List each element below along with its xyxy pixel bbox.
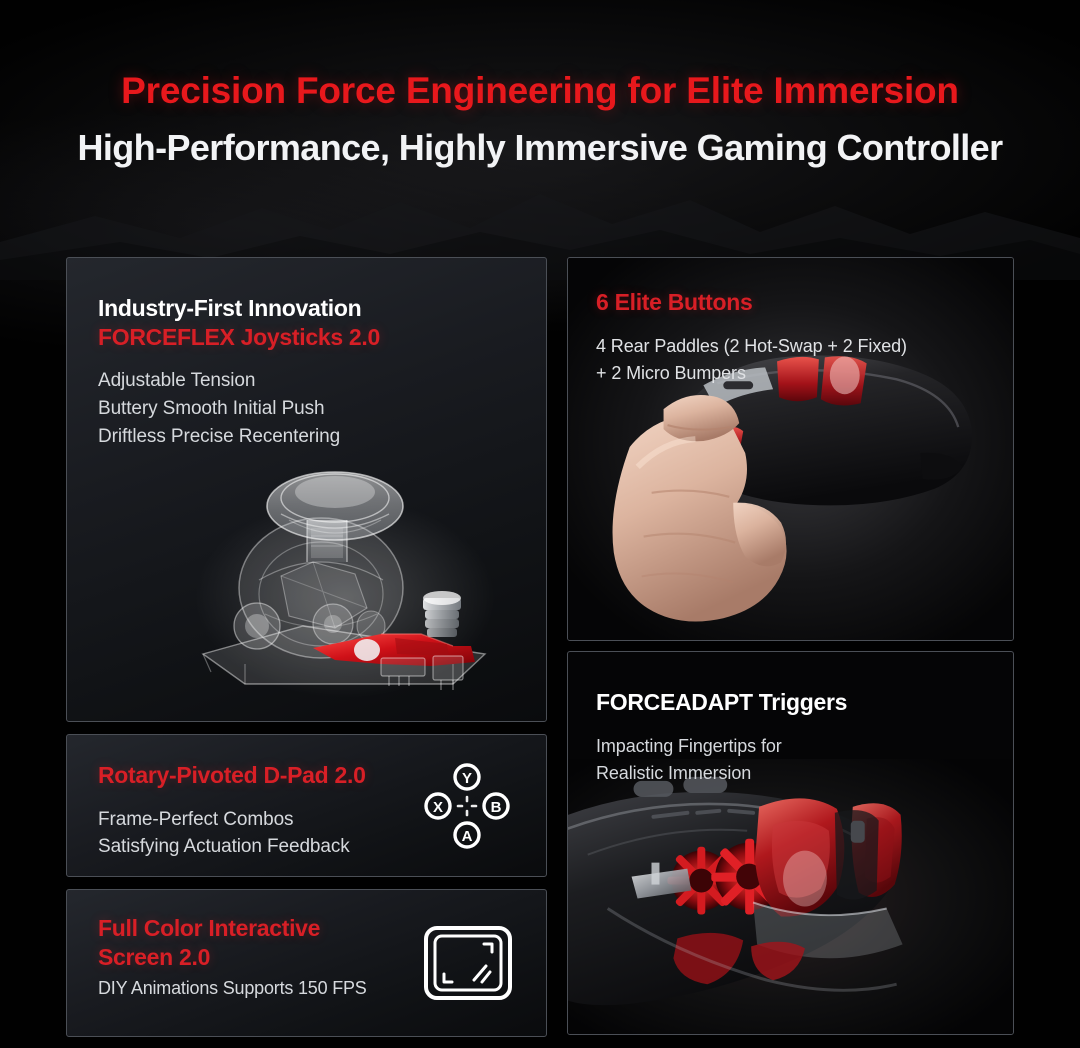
dpad-label-y: Y [462, 770, 472, 787]
joystick-kicker-red: FORCEFLEX Joysticks 2.0 [98, 323, 546, 352]
card-dpad-text: Rotary-Pivoted D-Pad 2.0 Frame-Perfect C… [67, 735, 397, 861]
dpad-kicker-red: Rotary-Pivoted D-Pad 2.0 [98, 761, 397, 790]
dpad-label-a: A [462, 828, 473, 845]
card-forceadapt-triggers[interactable]: FORCEADAPT Triggers Impacting Fingertips… [567, 651, 1014, 1035]
screen-subtitle: DIY Animations Supports 150 FPS [98, 978, 387, 999]
card-screen-text: Full Color Interactive Screen 2.0 DIY An… [67, 890, 387, 999]
screen-kicker-red-line1: Full Color Interactive [98, 914, 387, 943]
buttons-bullets: 4 Rear Paddles (2 Hot-Swap + 2 Fixed) + … [596, 333, 1013, 387]
right-column: 6 Elite Buttons 4 Rear Paddles (2 Hot-Sw… [567, 257, 1014, 1037]
card-forceflex-joystick[interactable]: Industry-First Innovation FORCEFLEX Joys… [66, 257, 547, 722]
feature-grid: Industry-First Innovation FORCEFLEX Joys… [66, 257, 1014, 1037]
left-column: Industry-First Innovation FORCEFLEX Joys… [66, 257, 547, 1037]
card-interactive-screen[interactable]: Full Color Interactive Screen 2.0 DIY An… [66, 889, 547, 1037]
list-item: Adjustable Tension [98, 367, 546, 395]
product-feature-page: Precision Force Engineering for Elite Im… [0, 0, 1080, 1048]
joystick-kicker: Industry-First Innovation [98, 294, 546, 323]
dpad-label-x: X [433, 799, 443, 816]
list-item: Buttery Smooth Initial Push [98, 395, 546, 423]
interactive-screen-icon [422, 924, 514, 1002]
list-item: 4 Rear Paddles (2 Hot-Swap + 2 Fixed) [596, 333, 1013, 360]
card-buttons-text: 6 Elite Buttons 4 Rear Paddles (2 Hot-Sw… [568, 258, 1013, 387]
joystick-bullets: Adjustable Tension Buttery Smooth Initia… [98, 367, 546, 451]
buttons-kicker-red: 6 Elite Buttons [596, 288, 1013, 317]
list-item: Satisfying Actuation Feedback [98, 833, 397, 861]
list-item: Frame-Perfect Combos [98, 806, 397, 834]
card-rotary-dpad[interactable]: Rotary-Pivoted D-Pad 2.0 Frame-Perfect C… [66, 734, 547, 877]
dpad-label-b: B [491, 799, 502, 816]
page-title-white: High-Performance, Highly Immersive Gamin… [0, 129, 1080, 167]
joystick-module-image [185, 458, 525, 703]
screen-kicker-red-line2: Screen 2.0 [98, 943, 387, 972]
card-joystick-text: Industry-First Innovation FORCEFLEX Joys… [67, 258, 546, 451]
list-item: + 2 Micro Bumpers [596, 360, 1013, 387]
list-item: Impacting Fingertips for [596, 733, 1013, 760]
headline-block: Precision Force Engineering for Elite Im… [0, 0, 1080, 167]
triggers-bullets: Impacting Fingertips for Realistic Immer… [596, 733, 1013, 787]
trigger-cutaway-image [568, 759, 1013, 1034]
card-elite-buttons[interactable]: 6 Elite Buttons 4 Rear Paddles (2 Hot-Sw… [567, 257, 1014, 641]
card-triggers-text: FORCEADAPT Triggers Impacting Fingertips… [568, 652, 1013, 787]
list-item: Driftless Precise Recentering [98, 423, 546, 451]
list-item: Realistic Immersion [596, 760, 1013, 787]
page-title-red: Precision Force Engineering for Elite Im… [0, 72, 1080, 111]
dpad-buttons-icon: Y X B A [424, 763, 510, 849]
triggers-kicker: FORCEADAPT Triggers [596, 688, 1013, 717]
dpad-bullets: Frame-Perfect Combos Satisfying Actuatio… [98, 806, 397, 862]
